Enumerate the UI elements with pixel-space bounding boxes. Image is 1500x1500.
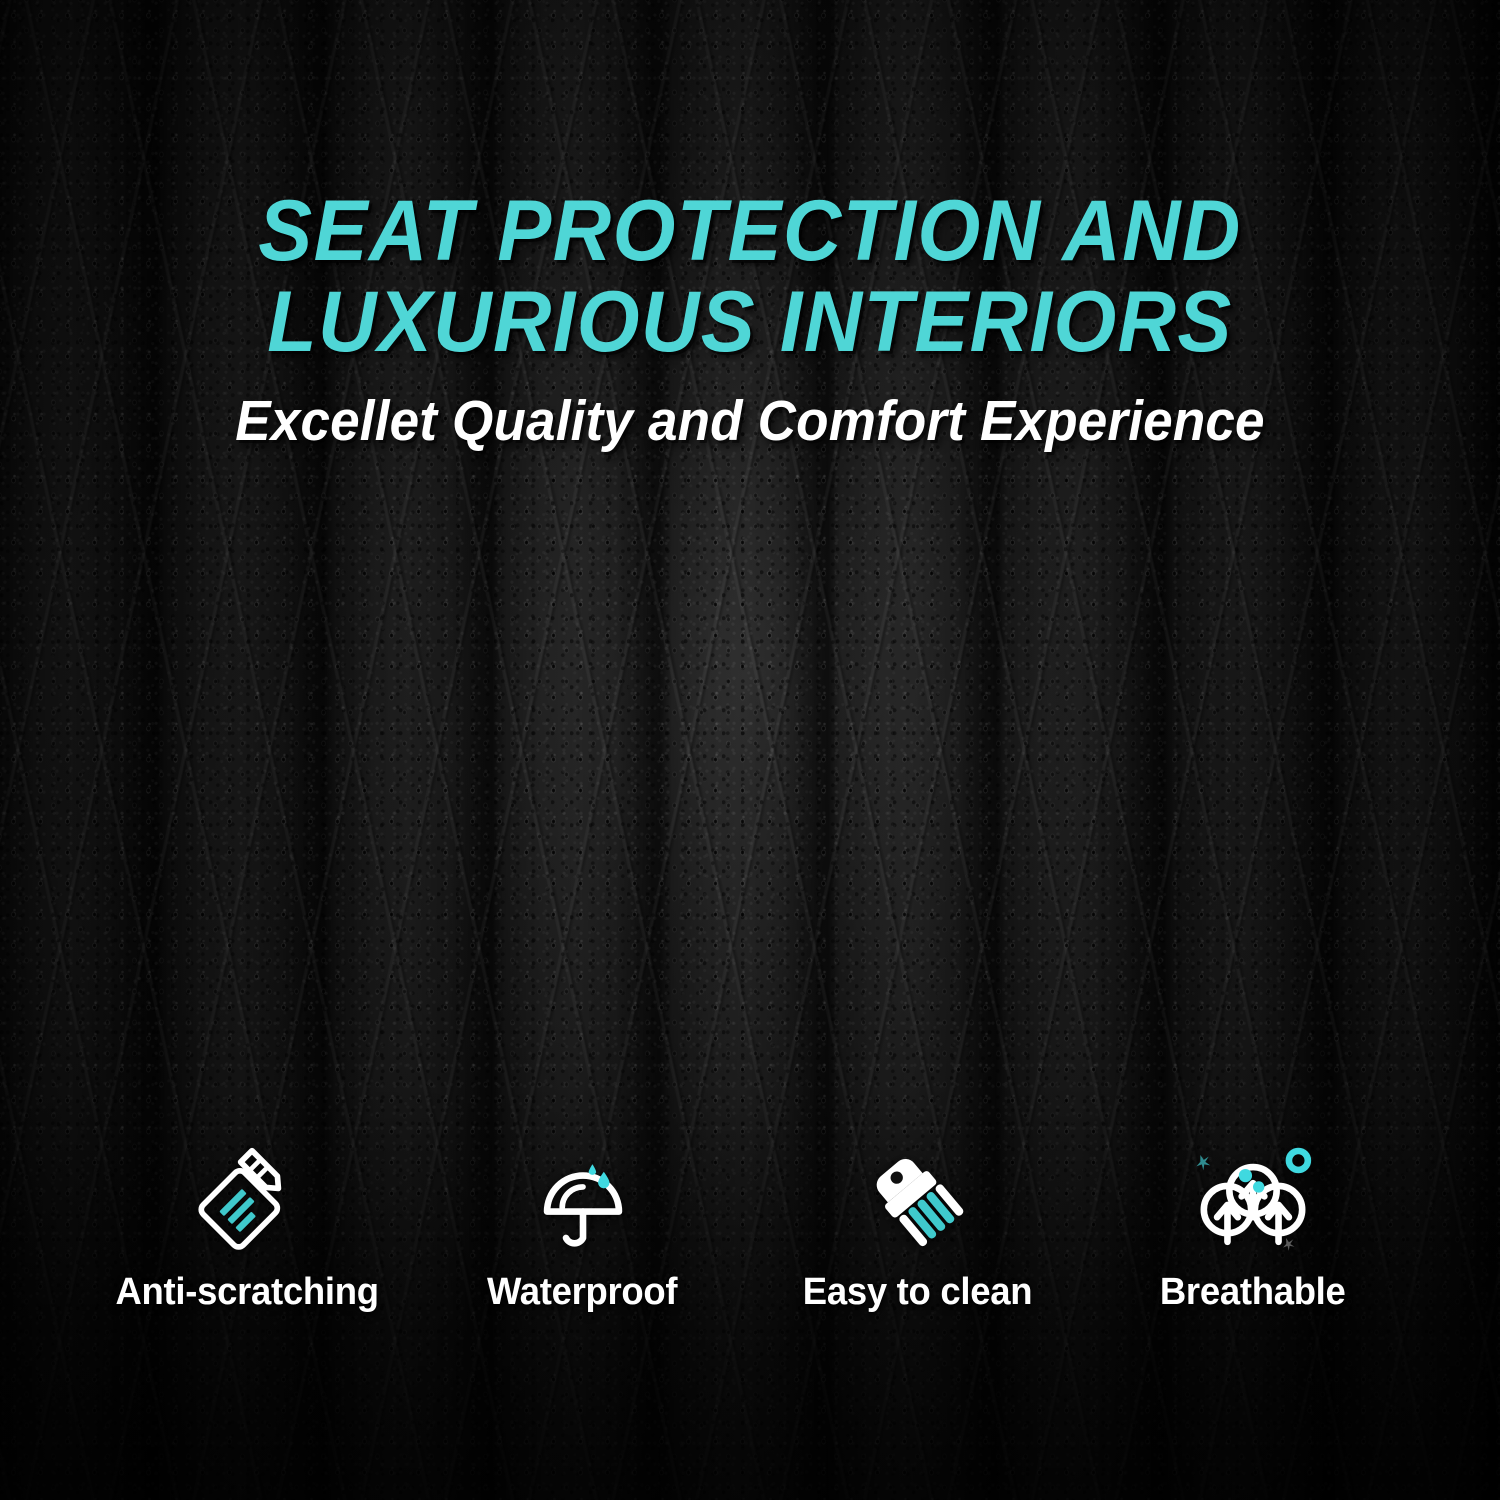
headline-line-1: SEAT PROTECTION AND (45, 186, 1455, 277)
feature-item-easy-to-clean: Easy to clean (750, 1151, 1085, 1314)
headline-line-2: LUXURIOUS INTERIORS (45, 277, 1455, 368)
feature-label-waterproof: Waterproof (487, 1271, 677, 1314)
headline-block: SEAT PROTECTION AND LUXURIOUS INTERIORS … (0, 186, 1500, 453)
feature-label-breathable: Breathable (1160, 1271, 1346, 1314)
feature-item-anti-scratching: Anti-scratching (80, 1151, 415, 1314)
feature-label-anti-scratching: Anti-scratching (116, 1271, 379, 1314)
feature-list: Anti-scratching Waterproof (80, 1151, 1420, 1314)
feature-label-easy-to-clean: Easy to clean (803, 1271, 1032, 1314)
cleaning-brush-icon (859, 1151, 977, 1255)
clouds-up-arrows-icon (1194, 1151, 1312, 1255)
umbrella-raindrops-icon (524, 1151, 642, 1255)
feature-item-breathable: Breathable (1085, 1151, 1420, 1314)
subtitle: Excellet Quality and Comfort Experience (53, 390, 1448, 453)
product-feature-banner: SEAT PROTECTION AND LUXURIOUS INTERIORS … (0, 0, 1500, 1500)
feature-item-waterproof: Waterproof (415, 1151, 750, 1314)
scratch-card-pencil-icon (189, 1151, 307, 1255)
